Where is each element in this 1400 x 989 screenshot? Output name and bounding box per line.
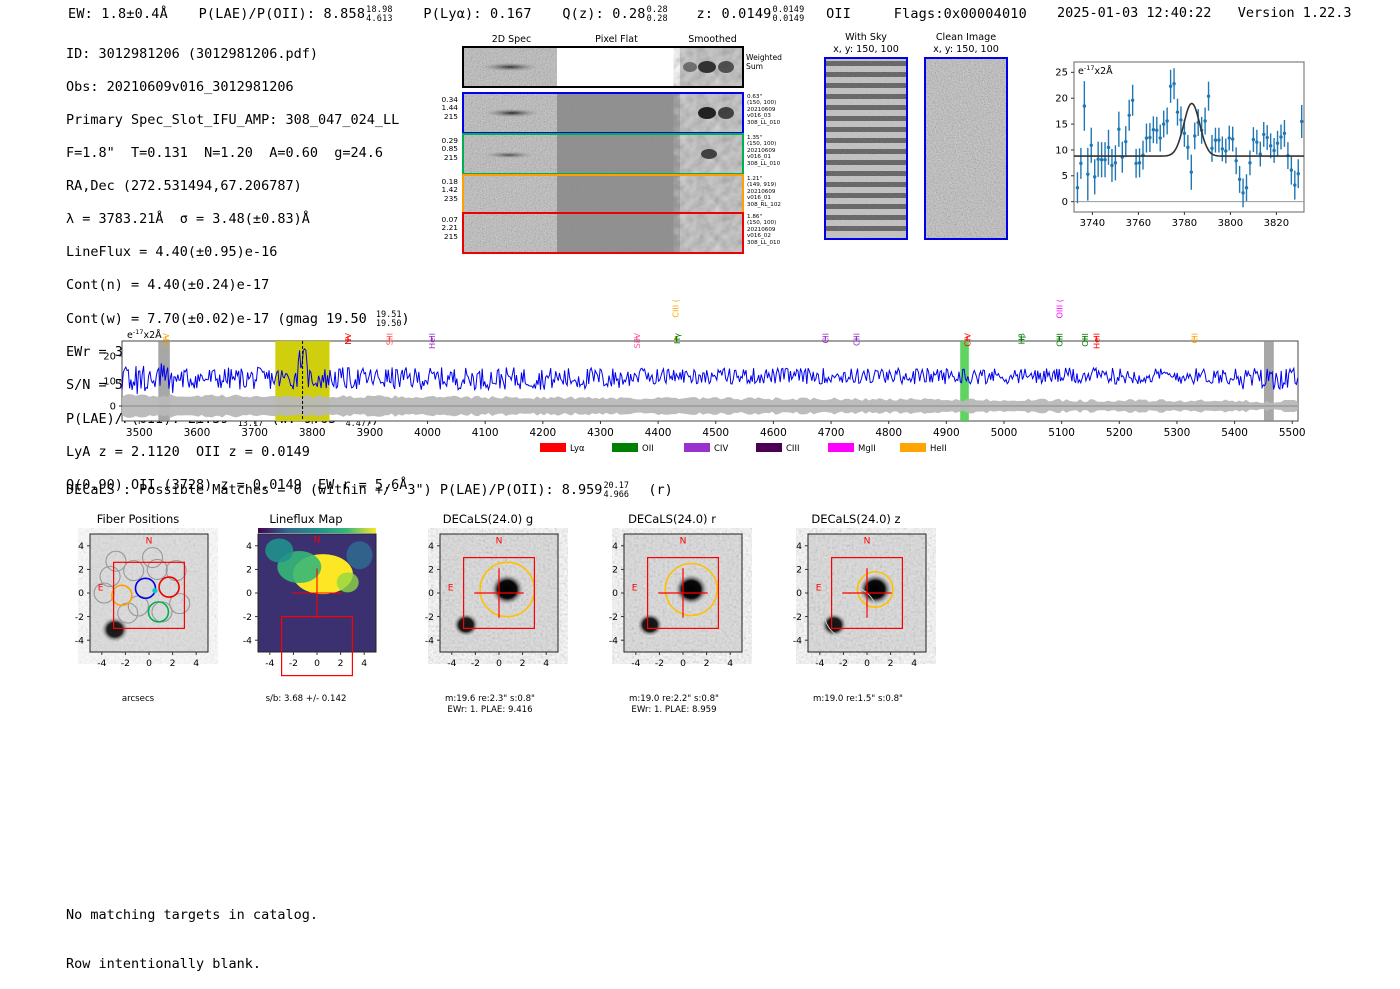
svg-text:SiIV: SiIV (632, 333, 642, 349)
svg-text:OIII (: OIII ( (1055, 299, 1065, 319)
fiber-row-right-labels: 1.21"(149, 919)20210609v016_01308_RL_102 (747, 176, 781, 208)
svg-text:HeII: HeII (1091, 333, 1101, 349)
svg-text:-2: -2 (289, 658, 298, 669)
header-summary-line: EW: 1.8±0.4Å P(LAE)/P(OII): 8.85818.984.… (68, 5, 1027, 23)
svg-text:0: 0 (314, 658, 320, 669)
fiber-row-left-labels: 0.181.42235 (432, 178, 458, 203)
header-plya: P(Lyα): 0.167 (423, 6, 531, 22)
svg-text:-2: -2 (471, 658, 480, 669)
svg-text:e-17x2Å: e-17x2Å (1078, 64, 1113, 77)
info-line-id: ID: 3012981206 (3012981206.pdf) (66, 46, 410, 62)
svg-text:3800: 3800 (299, 427, 326, 439)
fiber-row-right-labels: 1.35"(150, 100)20210609v016_01308_LL_010 (747, 135, 780, 167)
weighted-sum-label: Weighted Sum (746, 54, 782, 71)
fiber-row-left-labels: 0.290.85215 (432, 137, 458, 162)
svg-text:-4: -4 (97, 658, 106, 669)
svg-text:3600: 3600 (184, 427, 211, 439)
cutout-title-decals-r: DECaLS(24.0) r (592, 512, 752, 526)
svg-text:-4: -4 (425, 635, 434, 646)
svg-text:-2: -2 (121, 658, 130, 669)
svg-text:-2: -2 (75, 612, 84, 623)
svg-text:4: 4 (193, 658, 199, 669)
svg-text:HeII: HeII (427, 333, 437, 349)
fiber-row (462, 92, 744, 134)
svg-text:CIV: CIV (161, 333, 171, 347)
svg-text:MgII: MgII (858, 444, 876, 454)
info-line-lambda: λ = 3783.21Å σ = 3.48(±0.83)Å (66, 211, 410, 227)
svg-text:-2: -2 (793, 612, 802, 623)
svg-text:-2: -2 (655, 658, 664, 669)
fiber-row-right-labels: 0.63"(150, 100)20210609v016_03308_LL_010 (747, 94, 780, 126)
svg-text:OII: OII (642, 444, 654, 454)
cutout-title-lineflux-map: Lineflux Map (226, 512, 386, 526)
svg-text:5300: 5300 (1164, 427, 1191, 439)
svg-text:4100: 4100 (472, 427, 499, 439)
svg-text:-4: -4 (265, 658, 274, 669)
svg-text:CIII: CIII (852, 333, 862, 346)
info-line-obs: Obs: 20210609v016_3012981206 (66, 79, 410, 95)
info-line-lineflux: LineFlux = 4.40(±0.95)e-16 (66, 244, 410, 260)
svg-text:-2: -2 (425, 612, 434, 623)
footer-line-1: No matching targets in catalog. (66, 907, 318, 923)
fiber-row (462, 212, 744, 254)
full-spectrum-plot: 0102035003600370038003900400041004200430… (60, 275, 1310, 465)
svg-text:4: 4 (361, 658, 367, 669)
svg-text:4: 4 (246, 541, 252, 552)
svg-text:4900: 4900 (933, 427, 960, 439)
svg-text:5100: 5100 (1048, 427, 1075, 439)
cutout-lineflux-map: N-4-4-2-2002244 (228, 528, 386, 710)
svg-text:E: E (98, 584, 104, 594)
svg-text:2: 2 (428, 565, 434, 576)
svg-text:10: 10 (103, 377, 116, 388)
cutout-title-decals-g: DECaLS(24.0) g (408, 512, 568, 526)
svg-text:20: 20 (1055, 94, 1068, 105)
header-z-range: 0.01490.0149 (773, 6, 805, 24)
svg-text:0: 0 (146, 658, 152, 669)
svg-text:0: 0 (110, 402, 116, 413)
header-qz-range: 0.280.28 (647, 6, 668, 24)
col-title-pixelflat: Pixel Flat (569, 34, 664, 45)
svg-text:3700: 3700 (241, 427, 268, 439)
clean-image-title: Clean Imagex, y: 150, 100 (918, 32, 1014, 55)
decals-header-text: DECaLS : Possible Matches = 0 (within +/… (66, 482, 602, 498)
svg-text:5000: 5000 (991, 427, 1018, 439)
cutout-title-decals-z: DECaLS(24.0) z (776, 512, 936, 526)
svg-text:4: 4 (428, 541, 434, 552)
decals-header-range: 20.174.966 (603, 482, 629, 500)
svg-text:5: 5 (1062, 171, 1068, 182)
svg-text:5200: 5200 (1106, 427, 1133, 439)
svg-text:5500: 5500 (1279, 427, 1306, 439)
svg-text:0: 0 (680, 658, 686, 669)
svg-text:4: 4 (727, 658, 733, 669)
svg-text:E: E (632, 584, 638, 594)
svg-text:3800: 3800 (1218, 218, 1243, 229)
svg-text:Hγ: Hγ (672, 333, 682, 344)
svg-text:4200: 4200 (529, 427, 556, 439)
svg-text:-2: -2 (839, 658, 848, 669)
cutout-caption-decals-z: m:19.0 re:1.5" s:0.8" (772, 694, 944, 705)
svg-text:4600: 4600 (760, 427, 787, 439)
svg-text:4: 4 (911, 658, 917, 669)
header-z: z: 0.0149 (697, 6, 772, 22)
svg-text:2: 2 (246, 565, 252, 576)
svg-text:2: 2 (78, 565, 84, 576)
header-plae-label: P(LAE)/P(OII): (199, 6, 316, 22)
svg-text:OIII: OIII (1055, 333, 1065, 347)
svg-text:3760: 3760 (1126, 218, 1151, 229)
svg-text:2: 2 (796, 565, 802, 576)
svg-text:CIII (: CIII ( (671, 299, 681, 318)
svg-text:2: 2 (612, 565, 618, 576)
svg-text:4: 4 (612, 541, 618, 552)
svg-text:CIV: CIV (714, 444, 728, 454)
svg-text:-2: -2 (609, 612, 618, 623)
svg-text:5400: 5400 (1221, 427, 1248, 439)
svg-text:-4: -4 (447, 658, 456, 669)
fiber-row-left-labels: 0.341.44215 (432, 96, 458, 121)
fiber-row (462, 133, 744, 175)
svg-text:2: 2 (888, 658, 894, 669)
emission-line-plot: 051015202537403760378038003820e-17x2Å (1040, 52, 1310, 252)
svg-text:CIV: CIV (962, 333, 972, 347)
svg-text:3820: 3820 (1264, 218, 1289, 229)
svg-text:4: 4 (796, 541, 802, 552)
svg-text:0: 0 (246, 588, 252, 599)
header-plae-range: 18.984.613 (366, 6, 393, 24)
cutout-fiber-positions: NE-4-4-2-2002244 (60, 528, 218, 710)
footer-line-2: Row intentionally blank. (66, 956, 318, 972)
fiber-row-right-labels: 1.86"(150, 100)20210609v016_02308_LL_010 (747, 214, 780, 246)
col-title-2dspec: 2D Spec (464, 34, 559, 45)
svg-text:2: 2 (338, 658, 344, 669)
svg-text:2: 2 (704, 658, 710, 669)
svg-text:3780: 3780 (1172, 218, 1197, 229)
svg-text:4400: 4400 (645, 427, 672, 439)
header-version: Version 1.22.3 (1238, 5, 1352, 21)
svg-text:0: 0 (78, 588, 84, 599)
cutout-caption-decals-r: m:19.0 re:2.2" s:0.8"EWr: 1. PLAE: 8.959 (588, 694, 760, 715)
fiber-row (462, 174, 744, 216)
svg-text:2: 2 (520, 658, 526, 669)
svg-text:0: 0 (1062, 197, 1068, 208)
header-plae-value: 8.858 (324, 6, 366, 22)
svg-text:4800: 4800 (875, 427, 902, 439)
svg-text:-4: -4 (609, 635, 618, 646)
svg-text:4500: 4500 (702, 427, 729, 439)
decals-header-band: (r) (648, 482, 672, 498)
svg-text:CII: CII (1189, 333, 1199, 344)
svg-text:-4: -4 (815, 658, 824, 669)
svg-text:-4: -4 (243, 635, 252, 646)
svg-text:4: 4 (543, 658, 549, 669)
svg-text:-2: -2 (243, 612, 252, 623)
svg-text:OIII: OIII (1080, 333, 1090, 347)
info-line-primary: Primary Spec_Slot_IFU_AMP: 308_047_024_L… (66, 112, 410, 128)
weighted-sum-image (464, 48, 742, 86)
info-line-seeing: F=1.8" T=0.131 N=1.20 A=0.60 g=24.6 (66, 145, 410, 161)
svg-text:2: 2 (170, 658, 176, 669)
cutout-decals-g: NE-4-4-2-2002244 (410, 528, 568, 710)
svg-text:E: E (816, 584, 822, 594)
svg-text:15: 15 (1055, 119, 1068, 130)
svg-text:4700: 4700 (818, 427, 845, 439)
svg-text:e-17x2Å: e-17x2Å (127, 328, 162, 341)
fiber-row-left-labels: 0.072.21215 (432, 216, 458, 241)
header-meta: 2025-01-03 12:40:22 Version 1.22.3 (1057, 5, 1352, 21)
cutout-decals-z: NE-4-4-2-2002244 (778, 528, 936, 710)
svg-text:CIII: CIII (786, 444, 799, 454)
header-qz: Q(z): 0.28 (562, 6, 645, 22)
svg-text:4300: 4300 (587, 427, 614, 439)
svg-text:Lyα: Lyα (570, 444, 585, 454)
svg-text:N: N (680, 536, 687, 546)
header-datetime: 2025-01-03 12:40:22 (1057, 5, 1211, 21)
cutout-caption-decals-g: m:19.6 re:2.3" s:0.8"EWr: 1. PLAE: 9.416 (404, 694, 576, 715)
header-flags: Flags:0x00004010 (894, 6, 1027, 22)
header-z-type: OII (826, 6, 851, 22)
svg-text:0: 0 (496, 658, 502, 669)
clean-image (924, 57, 1008, 240)
svg-text:-4: -4 (793, 635, 802, 646)
svg-text:CII: CII (820, 333, 830, 344)
svg-text:0: 0 (796, 588, 802, 599)
svg-text:N: N (314, 535, 321, 545)
svg-text:N: N (496, 536, 503, 546)
svg-text:0: 0 (864, 658, 870, 669)
with-sky-image (824, 57, 908, 240)
sky-image-title: With Skyx, y: 150, 100 (818, 32, 914, 55)
svg-text:4: 4 (78, 541, 84, 552)
svg-text:3900: 3900 (357, 427, 384, 439)
decals-header: DECaLS : Possible Matches = 0 (within +/… (66, 481, 673, 499)
svg-text:3500: 3500 (126, 427, 153, 439)
svg-text:E: E (448, 584, 454, 594)
svg-text:NV: NV (343, 333, 353, 345)
cutout-title-fiber-positions: Fiber Positions (58, 512, 218, 526)
svg-text:0: 0 (612, 588, 618, 599)
info-line-radec: RA,Dec (272.531494,67.206787) (66, 178, 410, 194)
weighted-sum-row (462, 46, 744, 88)
svg-text:4000: 4000 (414, 427, 441, 439)
svg-text:20: 20 (103, 352, 116, 363)
svg-text:-4: -4 (75, 635, 84, 646)
header-ew: EW: 1.8±0.4Å (68, 6, 168, 22)
svg-text:0: 0 (428, 588, 434, 599)
svg-text:3740: 3740 (1080, 218, 1105, 229)
svg-text:10: 10 (1055, 145, 1068, 156)
cutout-caption-lineflux-map: s/b: 3.68 +/- 0.142 (226, 694, 386, 705)
svg-text:HeII: HeII (930, 444, 947, 454)
svg-text:Hβ: Hβ (1016, 333, 1026, 344)
svg-text:-4: -4 (631, 658, 640, 669)
col-title-smoothed: Smoothed (665, 34, 760, 45)
cutout-decals-r: NE-4-4-2-2002244 (594, 528, 752, 710)
footer-note: No matching targets in catalog. Row inte… (66, 874, 318, 989)
cutout-caption-fiber-positions: arcsecs (58, 694, 218, 705)
svg-text:SiII: SiII (385, 333, 395, 345)
svg-text:N: N (146, 536, 153, 546)
svg-text:25: 25 (1055, 68, 1068, 79)
svg-text:N: N (864, 536, 871, 546)
